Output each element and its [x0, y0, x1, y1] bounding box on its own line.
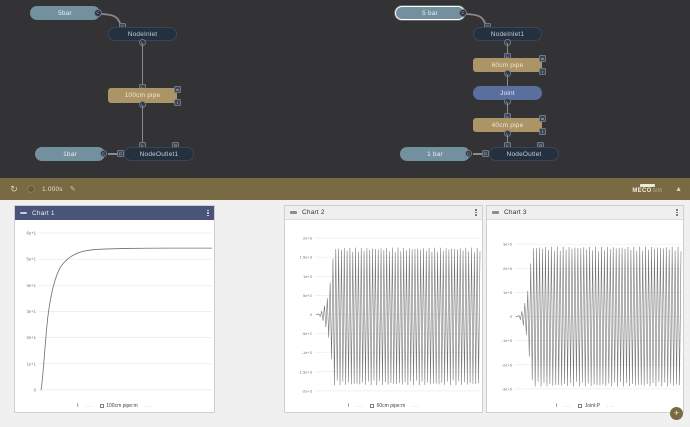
svg-text:1.5e+3: 1.5e+3 [300, 255, 313, 260]
x-axis-label: t [348, 403, 349, 409]
chart-title: Chart 3 [504, 209, 527, 216]
chart-2-svg: 2e+3 1.5e+3 1e+3 5e+2 0 -5e+2 -1e+3 -1.5… [285, 220, 482, 399]
svg-text:4e+1: 4e+1 [27, 283, 37, 288]
legend-entry[interactable]: 100cm pipe:m [100, 403, 138, 409]
legend-dots-left: ... [356, 403, 363, 409]
chart-plot-area[interactable]: 3e+5 2e+5 1e+5 0 -1e+5 -2e+5 -3e+5 [487, 220, 683, 399]
node-label: 40cm pipe [492, 122, 524, 129]
edge-pipe-to-outlet [142, 106, 144, 143]
svg-text:-5e+2: -5e+2 [302, 331, 313, 336]
chart-panel-header[interactable]: Chart 2 [285, 206, 482, 220]
legend-dots-right: ... [607, 403, 614, 409]
chevron-up-icon[interactable]: ▲ [673, 186, 682, 193]
node-label: 1bar [63, 151, 77, 158]
legend-entry[interactable]: Joint:P [578, 403, 600, 409]
chart-panel-2[interactable]: Chart 2 2e+3 1.5e+3 [284, 205, 483, 413]
svg-text:3e+5: 3e+5 [503, 242, 513, 247]
svg-text:-2e+5: -2e+5 [502, 362, 513, 367]
port-pipe40-mass[interactable]: m [539, 115, 546, 122]
drag-handle-icon[interactable] [492, 211, 499, 214]
node-source-5bar[interactable]: 5bar [30, 6, 100, 20]
port-sink-out[interactable]: C [100, 150, 107, 157]
node-editor-canvas[interactable]: 5bar C C NodeInlet L L 100cm pipe m l L [0, 0, 690, 178]
svg-text:1e+5: 1e+5 [503, 290, 513, 295]
node-sink-1bar[interactable]: 1 bar [400, 147, 470, 161]
node-label: NodeOutlet [507, 151, 542, 158]
port-outlet-conn[interactable]: C [117, 150, 124, 157]
chart-title: Chart 1 [32, 210, 55, 217]
node-label: NodeInlet1 [491, 31, 524, 38]
chart-panel-3[interactable]: Chart 3 3e+5 2e+5 1e+5 0 [486, 205, 684, 413]
port-pipe-mass[interactable]: m [174, 86, 181, 93]
chart-panel-header[interactable]: Chart 1 [15, 206, 214, 220]
port-source-out[interactable]: C [94, 9, 102, 17]
legend-checkbox[interactable] [370, 404, 374, 408]
kebab-menu-icon[interactable] [475, 209, 477, 216]
svg-text:-1e+5: -1e+5 [502, 338, 513, 343]
node-label: Joint [500, 90, 515, 97]
svg-text:5e+2: 5e+2 [303, 293, 313, 298]
legend-label: 60cm pipe:m [377, 403, 406, 409]
svg-text:2e+5: 2e+5 [503, 266, 513, 271]
charts-dock: Chart 1 6e+1 5e+1 4e+1 3e [0, 200, 690, 427]
port-sink-out[interactable]: C [465, 150, 472, 157]
legend-checkbox[interactable] [578, 404, 582, 408]
left-flow-diagram[interactable]: 5bar C C NodeInlet L L 100cm pipe m l L [0, 0, 345, 178]
right-flow-diagram[interactable]: 5 bar C C NodeInlet1 L L 60cm pipe m l L [345, 0, 690, 178]
svg-text:3e+1: 3e+1 [27, 309, 37, 314]
node-sink-1bar[interactable]: 1bar [35, 147, 105, 161]
logo-text: MECO [632, 188, 651, 194]
chart-3-svg: 3e+5 2e+5 1e+5 0 -1e+5 -2e+5 -3e+5 [487, 220, 683, 399]
svg-text:1e+1: 1e+1 [27, 361, 37, 366]
node-label: 5bar [58, 10, 72, 17]
port-pipe-length[interactable]: l [174, 99, 181, 106]
node-label: NodeInlet [128, 31, 158, 38]
port-source-out[interactable]: C [459, 9, 467, 17]
kebab-menu-icon[interactable] [676, 209, 678, 216]
chart-legend-bar[interactable]: t ... 60cm pipe:m ... [285, 399, 482, 412]
svg-text:2e+3: 2e+3 [303, 236, 313, 241]
port-pipe60-length[interactable]: l [539, 68, 546, 75]
node-outlet[interactable]: NodeOutlet1 [124, 147, 194, 161]
svg-text:2e+1: 2e+1 [27, 335, 37, 340]
legend-label: 100cm pipe:m [106, 403, 137, 409]
node-outlet[interactable]: NodeOutlet [489, 147, 559, 161]
legend-label: Joint:P [585, 403, 600, 409]
chart-plot-area[interactable]: 2e+3 1.5e+3 1e+3 5e+2 0 -5e+2 -1e+3 -1.5… [285, 220, 482, 399]
svg-text:-3e+5: -3e+5 [502, 386, 513, 391]
port-pipe40-length[interactable]: l [539, 128, 546, 135]
legend-entry[interactable]: 60cm pipe:m [370, 403, 405, 409]
node-source-5bar[interactable]: 5 bar [395, 6, 465, 20]
svg-text:6e+1: 6e+1 [27, 231, 37, 236]
legend-dots-right: ... [145, 403, 152, 409]
app-logo: MECO SIM [632, 184, 662, 194]
chart-panel-header[interactable]: Chart 3 [487, 206, 683, 220]
svg-text:0: 0 [310, 312, 313, 317]
node-label: 100cm pipe [125, 92, 161, 99]
chart-1-svg: 6e+1 5e+1 4e+1 3e+1 2e+1 1e+1 0 [15, 220, 214, 399]
port-pipe60-mass[interactable]: m [539, 55, 546, 62]
legend-dots-left: ... [86, 403, 93, 409]
svg-text:5e+1: 5e+1 [27, 257, 37, 262]
x-axis-label: t [77, 403, 78, 409]
svg-text:-2e+3: -2e+3 [302, 388, 313, 393]
node-label: NodeOutlet1 [140, 151, 179, 158]
logo-bar [640, 184, 655, 187]
edge-inlet-to-pipe [142, 44, 144, 86]
x-axis-label: t [556, 403, 557, 409]
svg-text:1e+3: 1e+3 [303, 274, 313, 279]
record-dot-icon[interactable] [27, 185, 35, 193]
simulation-toolbar[interactable]: ↻ 1.000s ✎ MECO SIM ▲ [0, 178, 690, 200]
logo-subtext: SIM [653, 188, 663, 194]
node-label: 60cm pipe [492, 62, 524, 69]
reset-icon[interactable]: ↻ [8, 183, 20, 195]
svg-text:-1.5e+3: -1.5e+3 [298, 369, 312, 374]
simulation-time-value: 1.000s [42, 186, 63, 193]
legend-checkbox[interactable] [100, 404, 104, 408]
drag-handle-icon[interactable] [20, 212, 27, 215]
legend-dots-left: ... [564, 403, 571, 409]
svg-text:0: 0 [34, 387, 37, 392]
chart-panel-1[interactable]: Chart 1 6e+1 5e+1 4e+1 3e [14, 205, 215, 413]
node-label: 5 bar [422, 10, 438, 17]
drag-handle-icon[interactable] [290, 211, 297, 214]
add-chart-button[interactable]: + [670, 407, 683, 420]
chart-plot-area[interactable]: 6e+1 5e+1 4e+1 3e+1 2e+1 1e+1 0 [15, 220, 214, 399]
port-outlet-conn[interactable]: C [482, 150, 489, 157]
svg-text:-1e+3: -1e+3 [302, 350, 313, 355]
chart-title: Chart 2 [302, 209, 325, 216]
chart-legend-bar[interactable]: t ... 100cm pipe:m ... [15, 399, 214, 412]
svg-text:0: 0 [510, 314, 513, 319]
legend-dots-right: ... [412, 403, 419, 409]
chart-legend-bar[interactable]: t ... Joint:P ... [487, 399, 683, 412]
pencil-icon[interactable]: ✎ [70, 185, 76, 193]
kebab-menu-icon[interactable] [207, 210, 209, 217]
node-label: 1 bar [427, 151, 443, 158]
